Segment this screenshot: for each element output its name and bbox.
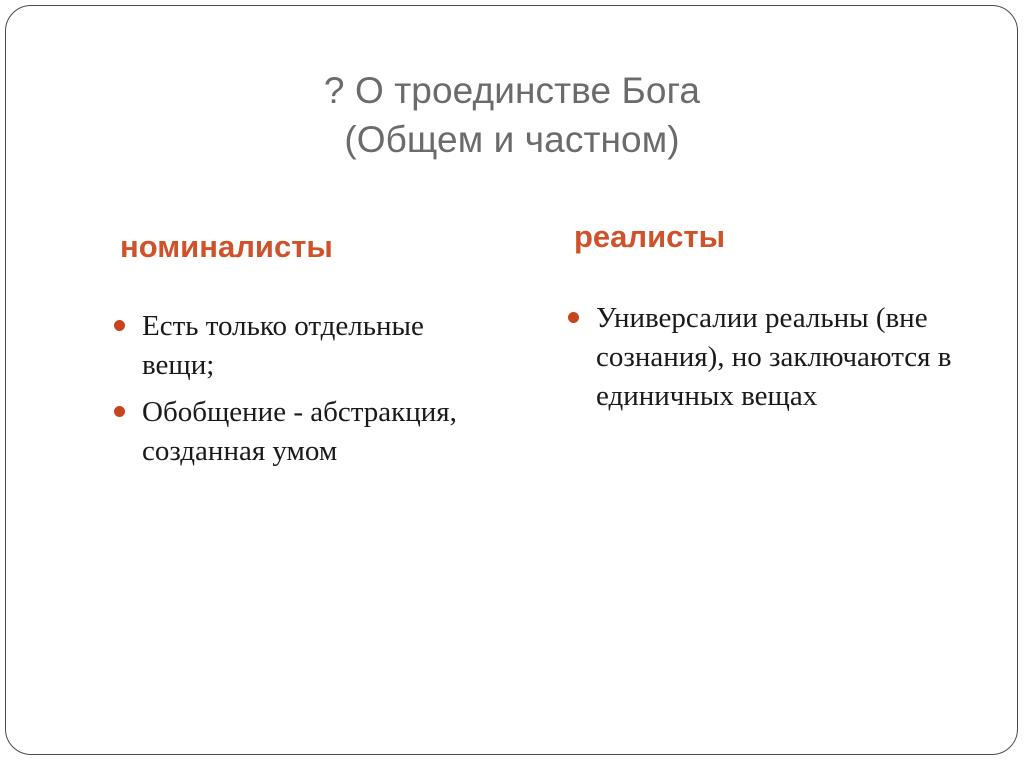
bullet-dot-icon — [114, 320, 125, 331]
list-item-label: Обобщение - абстракция, созданная умом — [142, 393, 484, 471]
list-item: Универсалии реальны (вне сознания), но з… — [558, 299, 958, 416]
two-column-content: номиналисты Есть только отдельные вещи; … — [0, 0, 1024, 767]
bullet-list-nominalists: Есть только отдельные вещи; Обобщение - … — [104, 307, 484, 470]
column-heading-nominalists: номиналисты — [120, 228, 484, 265]
column-nominalists: номиналисты Есть только отдельные вещи; … — [104, 228, 484, 471]
list-item: Есть только отдельные вещи; — [104, 307, 484, 385]
list-item: Обобщение - абстракция, созданная умом — [104, 393, 484, 471]
bullet-list-realists: Универсалии реальны (вне сознания), но з… — [558, 299, 958, 416]
bullet-dot-icon — [114, 406, 125, 417]
column-realists: реалисты Универсалии реальны (вне сознан… — [558, 218, 958, 416]
slide: ? О троединстве Бога (Общем и частном) н… — [0, 0, 1024, 767]
column-heading-realists: реалисты — [574, 218, 958, 255]
bullet-dot-icon — [568, 312, 579, 323]
list-item-label: Есть только отдельные вещи; — [142, 307, 484, 385]
list-item-label: Универсалии реальны (вне сознания), но з… — [596, 299, 958, 416]
